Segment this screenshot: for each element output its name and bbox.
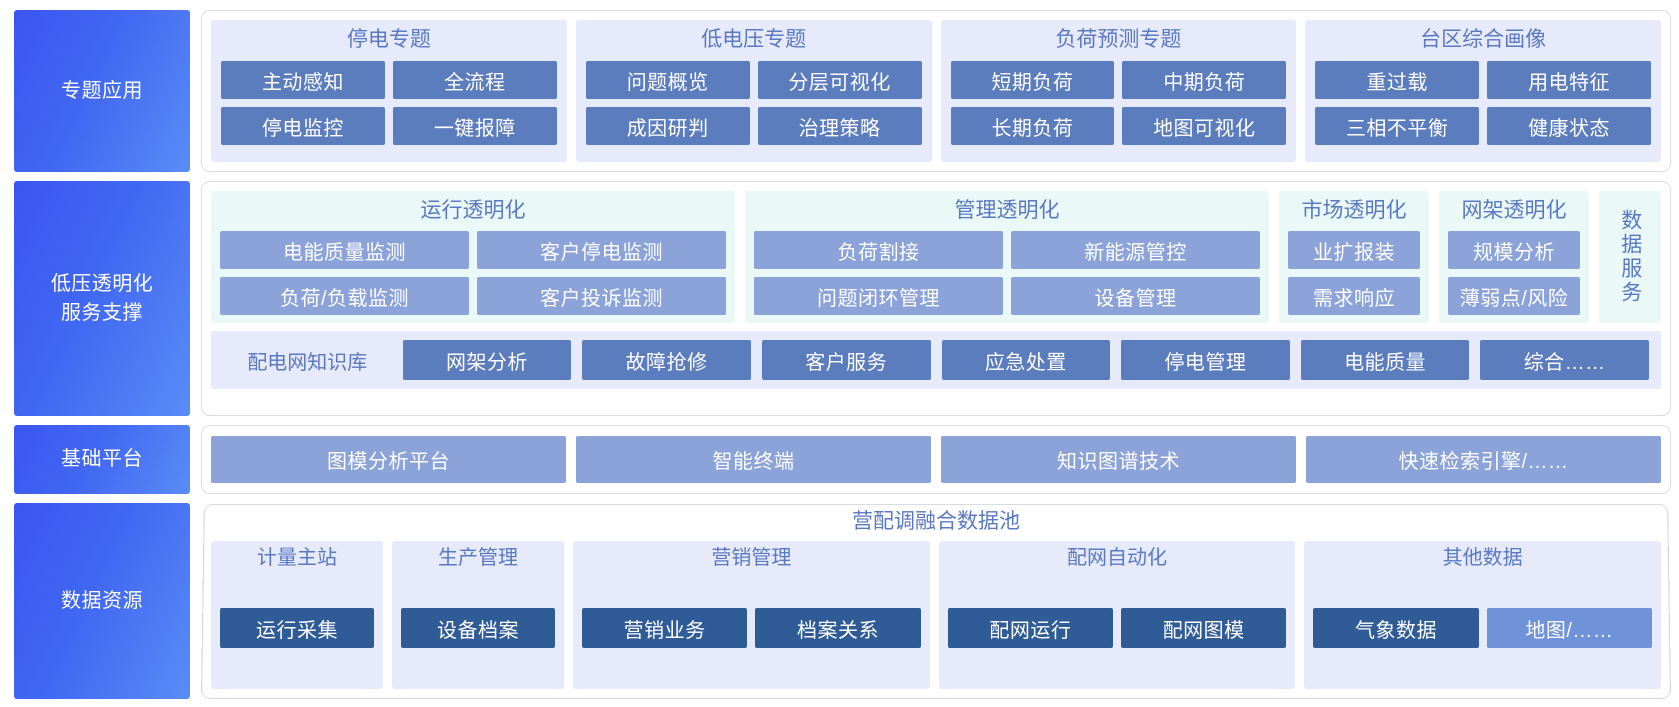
tile-grid: 问题概览 分层可视化 成因研判 治理策略 <box>586 61 922 145</box>
layer-row-platform: 基础平台 图模分析平台 智能终端 知识图谱技术 快速检索引擎/…… <box>14 425 1671 494</box>
tile-knowledge[interactable]: 电能质量 <box>1301 340 1470 380</box>
tile-grid: 运行采集 <box>220 575 374 681</box>
tile-service[interactable]: 需求响应 <box>1288 277 1420 315</box>
tile-grid: 重过载 用电特征 三相不平衡 健康状态 <box>1315 61 1651 145</box>
tile-knowledge[interactable]: 网架分析 <box>403 340 572 380</box>
group-grid-transparency: 网架透明化 规模分析 薄弱点/风险 <box>1439 191 1589 323</box>
group-marketing-management: 营销管理 营销业务 档案关系 <box>573 541 930 689</box>
data-pool-title: 营配调融合数据池 <box>211 509 1661 534</box>
tile-service[interactable]: 设备管理 <box>1011 277 1260 315</box>
layer-label-transparency: 低压透明化 服务支撑 <box>14 181 190 416</box>
tile-grid: 负荷割接 新能源管控 问题闭环管理 设备管理 <box>754 231 1260 315</box>
applications-panel: 停电专题 主动感知 全流程 停电监控 一键报障 低电压专题 问题概览 分层可视化… <box>201 10 1671 172</box>
tile-knowledge[interactable]: 应急处置 <box>942 340 1111 380</box>
tile-app[interactable]: 成因研判 <box>586 107 750 145</box>
tile-platform[interactable]: 图模分析平台 <box>211 436 566 483</box>
tile-data[interactable]: 气象数据 <box>1313 608 1478 648</box>
tile-app[interactable]: 一键报障 <box>393 107 557 145</box>
tile-data[interactable]: 营销业务 <box>582 608 747 648</box>
architecture-diagram: 专题应用 停电专题 主动感知 全流程 停电监控 一键报障 低电压专题 问题概览 … <box>0 0 1679 707</box>
transparency-panel: 运行透明化 电能质量监测 客户停电监测 负荷/负载监测 客户投诉监测 管理透明化… <box>201 181 1671 416</box>
tile-app[interactable]: 分层可视化 <box>758 61 922 99</box>
group-title: 计量主站 <box>220 545 374 571</box>
layer-label-applications: 专题应用 <box>14 10 190 172</box>
group-operation-transparency: 运行透明化 电能质量监测 客户停电监测 负荷/负载监测 客户投诉监测 <box>211 191 735 323</box>
data-groups: 计量主站 运行采集 生产管理 设备档案 营销管理 <box>211 541 1661 689</box>
tile-app[interactable]: 健康状态 <box>1487 107 1651 145</box>
group-station-profile-topic: 台区综合画像 重过载 用电特征 三相不平衡 健康状态 <box>1305 20 1661 162</box>
tile-grid: 业扩报装 需求响应 <box>1288 231 1420 315</box>
tile-service[interactable]: 规模分析 <box>1448 231 1580 269</box>
tile-data[interactable]: 运行采集 <box>220 608 374 648</box>
tile-platform[interactable]: 快速检索引擎/…… <box>1306 436 1661 483</box>
tile-data[interactable]: 设备档案 <box>401 608 555 648</box>
tile-data[interactable]: 地图/…… <box>1487 608 1652 648</box>
group-low-voltage-topic: 低电压专题 问题概览 分层可视化 成因研判 治理策略 <box>576 20 932 162</box>
tile-service[interactable]: 业扩报装 <box>1288 231 1420 269</box>
group-title: 管理透明化 <box>754 197 1260 225</box>
data-pool-content: 营配调融合数据池 计量主站 运行采集 生产管理 设备档案 <box>201 503 1671 699</box>
group-production-management: 生产管理 设备档案 <box>392 541 564 689</box>
group-other-data: 其他数据 气象数据 地图/…… <box>1304 541 1661 689</box>
knowledge-base-strip: 配电网知识库 网架分析 故障抢修 客户服务 应急处置 停电管理 电能质量 综合…… <box>211 331 1661 389</box>
data-service-card: 数据服务 <box>1599 191 1661 323</box>
layer-label-platform: 基础平台 <box>14 425 190 494</box>
group-title: 运行透明化 <box>220 197 726 225</box>
tile-service[interactable]: 负荷/负载监测 <box>220 277 469 315</box>
layer-row-transparency: 低压透明化 服务支撑 运行透明化 电能质量监测 客户停电监测 负荷/负载监测 客… <box>14 181 1671 416</box>
group-outage-topic: 停电专题 主动感知 全流程 停电监控 一键报障 <box>211 20 567 162</box>
group-load-forecast-topic: 负荷预测专题 短期负荷 中期负荷 长期负荷 地图可视化 <box>941 20 1297 162</box>
knowledge-base-label: 配电网知识库 <box>223 346 392 375</box>
tile-service[interactable]: 新能源管控 <box>1011 231 1260 269</box>
tile-app[interactable]: 三相不平衡 <box>1315 107 1479 145</box>
data-resources-panel: 营配调融合数据池 计量主站 运行采集 生产管理 设备档案 <box>201 503 1671 699</box>
platform-panel: 图模分析平台 智能终端 知识图谱技术 快速检索引擎/…… <box>201 425 1671 494</box>
tile-app[interactable]: 全流程 <box>393 61 557 99</box>
tile-service[interactable]: 薄弱点/风险 <box>1448 277 1580 315</box>
tile-service[interactable]: 客户投诉监测 <box>477 277 726 315</box>
transparency-groups: 运行透明化 电能质量监测 客户停电监测 负荷/负载监测 客户投诉监测 管理透明化… <box>211 191 1661 323</box>
tile-service[interactable]: 负荷割接 <box>754 231 1003 269</box>
tile-knowledge[interactable]: 综合…… <box>1480 340 1649 380</box>
tile-grid: 主动感知 全流程 停电监控 一键报障 <box>221 61 557 145</box>
tile-app[interactable]: 中期负荷 <box>1122 61 1286 99</box>
layer-label-data-resources: 数据资源 <box>14 503 190 699</box>
tile-platform[interactable]: 知识图谱技术 <box>941 436 1296 483</box>
layer-row-applications: 专题应用 停电专题 主动感知 全流程 停电监控 一键报障 低电压专题 问题概览 … <box>14 10 1671 172</box>
layer-row-data-resources: 数据资源 营配调融合数据池 计量主站 运行采集 生产管理 设备档案 <box>14 503 1671 699</box>
tile-knowledge[interactable]: 故障抢修 <box>582 340 751 380</box>
tile-grid: 配网运行 配网图模 <box>948 575 1287 681</box>
tile-app[interactable]: 短期负荷 <box>951 61 1115 99</box>
tile-app[interactable]: 重过载 <box>1315 61 1479 99</box>
data-service-label: 数据服务 <box>1617 209 1643 305</box>
tile-data[interactable]: 配网运行 <box>948 608 1113 648</box>
tile-app[interactable]: 用电特征 <box>1487 61 1651 99</box>
group-management-transparency: 管理透明化 负荷割接 新能源管控 问题闭环管理 设备管理 <box>745 191 1269 323</box>
group-title: 停电专题 <box>221 27 557 55</box>
tile-app[interactable]: 停电监控 <box>221 107 385 145</box>
group-title: 生产管理 <box>401 545 555 571</box>
tile-app[interactable]: 主动感知 <box>221 61 385 99</box>
tile-platform[interactable]: 智能终端 <box>576 436 931 483</box>
group-metering-master: 计量主站 运行采集 <box>211 541 383 689</box>
tile-grid: 营销业务 档案关系 <box>582 575 921 681</box>
group-distribution-automation: 配网自动化 配网运行 配网图模 <box>939 541 1296 689</box>
group-title: 台区综合画像 <box>1315 27 1651 55</box>
group-title: 营销管理 <box>582 545 921 571</box>
tile-data[interactable]: 档案关系 <box>755 608 920 648</box>
tile-app[interactable]: 问题概览 <box>586 61 750 99</box>
group-title: 配网自动化 <box>948 545 1287 571</box>
tile-grid: 气象数据 地图/…… <box>1313 575 1652 681</box>
group-title: 其他数据 <box>1313 545 1652 571</box>
group-title: 低电压专题 <box>586 27 922 55</box>
layer-label-line1: 低压透明化 <box>51 270 154 299</box>
tile-grid: 电能质量监测 客户停电监测 负荷/负载监测 客户投诉监测 <box>220 231 726 315</box>
tile-service[interactable]: 客户停电监测 <box>477 231 726 269</box>
tile-service[interactable]: 电能质量监测 <box>220 231 469 269</box>
group-market-transparency: 市场透明化 业扩报装 需求响应 <box>1279 191 1429 323</box>
tile-app[interactable]: 地图可视化 <box>1122 107 1286 145</box>
tile-app[interactable]: 治理策略 <box>758 107 922 145</box>
tile-grid: 规模分析 薄弱点/风险 <box>1448 231 1580 315</box>
tile-knowledge[interactable]: 客户服务 <box>762 340 931 380</box>
tile-knowledge[interactable]: 停电管理 <box>1121 340 1290 380</box>
tile-grid: 短期负荷 中期负荷 长期负荷 地图可视化 <box>951 61 1287 145</box>
group-title: 网架透明化 <box>1448 197 1580 225</box>
tile-app[interactable]: 长期负荷 <box>951 107 1115 145</box>
layer-label-line2: 服务支撑 <box>51 299 154 328</box>
tile-service[interactable]: 问题闭环管理 <box>754 277 1003 315</box>
tile-grid: 设备档案 <box>401 575 555 681</box>
tile-data[interactable]: 配网图模 <box>1121 608 1286 648</box>
group-title: 负荷预测专题 <box>951 27 1287 55</box>
group-title: 市场透明化 <box>1288 197 1420 225</box>
